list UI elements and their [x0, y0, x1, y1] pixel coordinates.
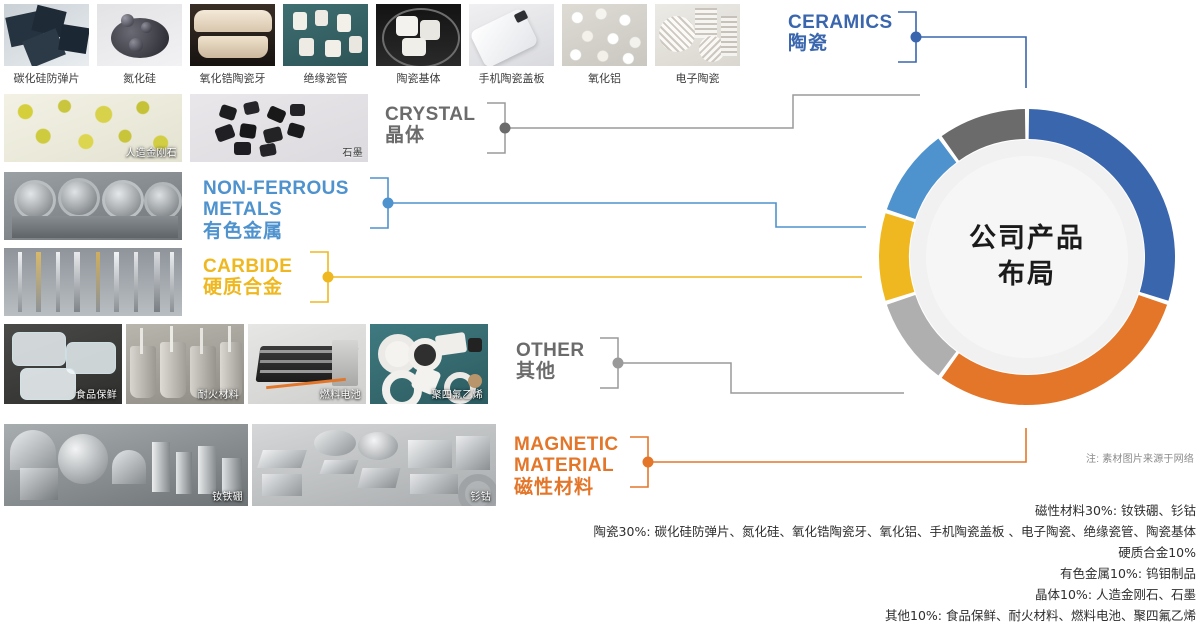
photo-caption: 石墨 [342, 144, 363, 159]
category-label-magnetic: MAGNETIC MATERIAL 磁性材料 [514, 434, 619, 498]
connector-dot-nonferrous [383, 198, 394, 209]
connector-dot-crystal [500, 123, 511, 134]
photo-food-preservation: 食品保鲜 [4, 324, 122, 404]
category-label-en-line2: MATERIAL [514, 455, 619, 476]
category-label-ceramics: CERAMICS 陶瓷 [788, 12, 893, 55]
photo-ndfeb-magnet: 钕铁硼 [4, 424, 248, 506]
photo-caption: 钕铁硼 [212, 488, 243, 503]
photo-caption: 氧化锆陶瓷牙 [190, 70, 275, 86]
connector-dot-other [613, 358, 624, 369]
photo-carbide-tools [4, 248, 182, 316]
photo-caption: 燃料电池 [320, 386, 361, 401]
legend-item: 晶体10%: 人造金刚石、石墨 [196, 584, 1196, 605]
category-label-cn: 晶体 [385, 125, 475, 146]
legend-item: 磁性材料30%: 钕铁硼、钐钴 [196, 500, 1196, 521]
category-label-en-line1: NON-FERROUS [203, 178, 349, 199]
photo-alumina-beads [562, 4, 647, 66]
photo-caption: 陶瓷基体 [376, 70, 461, 86]
category-label-en: OTHER [516, 340, 585, 361]
category-label-en-line2: METALS [203, 199, 349, 220]
infographic-canvas: 碳化硅防弹片 氮化硅 氧化锆陶瓷牙 绝缘瓷管 陶瓷基体 手机陶瓷盖板 [0, 0, 1204, 632]
photo-carbide-silicon-plate [4, 4, 89, 66]
photo-caption: 耐火材料 [198, 386, 239, 401]
category-label-carbide: CARBIDE 硬质合金 [203, 256, 292, 299]
photo-caption: 绝缘瓷管 [283, 70, 368, 86]
donut-center-line2: 布局 [998, 257, 1056, 293]
photo-zirconia-dental [190, 4, 275, 66]
category-label-cn: 磁性材料 [514, 477, 619, 498]
photo-electronic-ceramics [655, 4, 740, 66]
photo-caption: 氮化硅 [97, 70, 182, 86]
photo-nonferrous-metal-parts [4, 172, 182, 240]
category-label-en: CARBIDE [203, 256, 292, 277]
category-label-cn: 有色金属 [203, 221, 349, 242]
photo-phone-ceramic-cover [469, 4, 554, 66]
category-label-other: OTHER 其他 [516, 340, 585, 383]
photo-samarium-cobalt: 钐钴 [252, 424, 496, 506]
legend-item: 有色金属10%: 钨钼制品 [196, 563, 1196, 584]
legend-item: 陶瓷30%: 碳化硅防弹片、氮化硅、氧化锆陶瓷牙、氧化铝、手机陶瓷盖板 、电子陶… [196, 521, 1196, 542]
category-label-en: CERAMICS [788, 12, 893, 33]
photo-caption: 电子陶瓷 [655, 70, 740, 86]
photo-fuel-cell: 燃料电池 [248, 324, 366, 404]
donut-center-label: 公司产品 布局 [852, 82, 1202, 432]
photo-insulating-tube [283, 4, 368, 66]
legend-item: 其他10%: 食品保鲜、耐火材料、燃料电池、聚四氟乙烯 [196, 605, 1196, 626]
source-note: 注: 素材图片来源于网络 [1086, 450, 1194, 465]
connector-ceramics [898, 12, 1026, 88]
legend-list: 磁性材料30%: 钕铁硼、钐钴陶瓷30%: 碳化硅防弹片、氮化硅、氧化锆陶瓷牙、… [196, 500, 1196, 626]
photo-graphite: 石墨 [190, 94, 368, 162]
category-label-cn: 陶瓷 [788, 33, 893, 54]
connector-dot-magnetic [643, 457, 654, 468]
photo-synthetic-diamond: 人造金刚石 [4, 94, 182, 162]
photo-caption: 人造金刚石 [126, 144, 178, 159]
photo-caption: 手机陶瓷盖板 [469, 70, 554, 86]
photo-silicon-nitride [97, 4, 182, 66]
photo-caption: 钐钴 [470, 488, 491, 503]
photo-caption: 食品保鲜 [76, 386, 117, 401]
connector-magnetic [630, 428, 1026, 487]
category-label-cn: 其他 [516, 361, 585, 382]
legend-item: 硬质合金10% [196, 542, 1196, 563]
category-label-nonferrous: NON-FERROUS METALS 有色金属 [203, 178, 349, 242]
donut-chart: 公司产品 布局 [852, 82, 1202, 432]
category-label-crystal: CRYSTAL 晶体 [385, 104, 475, 147]
photo-ceramic-substrate [376, 4, 461, 66]
connector-dot-ceramics [911, 32, 922, 43]
connector-dot-carbide [323, 272, 334, 283]
connector-nonferrous [370, 178, 866, 228]
category-label-cn: 硬质合金 [203, 277, 292, 298]
connector-carbide [310, 252, 862, 302]
category-label-en-line1: MAGNETIC [514, 434, 619, 455]
photo-refractory-material: 耐火材料 [126, 324, 244, 404]
donut-center-line1: 公司产品 [969, 221, 1085, 257]
photo-ptfe: 聚四氟乙烯 [370, 324, 488, 404]
photo-caption: 氧化铝 [562, 70, 647, 86]
photo-caption: 聚四氟乙烯 [432, 386, 484, 401]
photo-caption: 碳化硅防弹片 [4, 70, 89, 86]
category-label-en: CRYSTAL [385, 104, 475, 125]
